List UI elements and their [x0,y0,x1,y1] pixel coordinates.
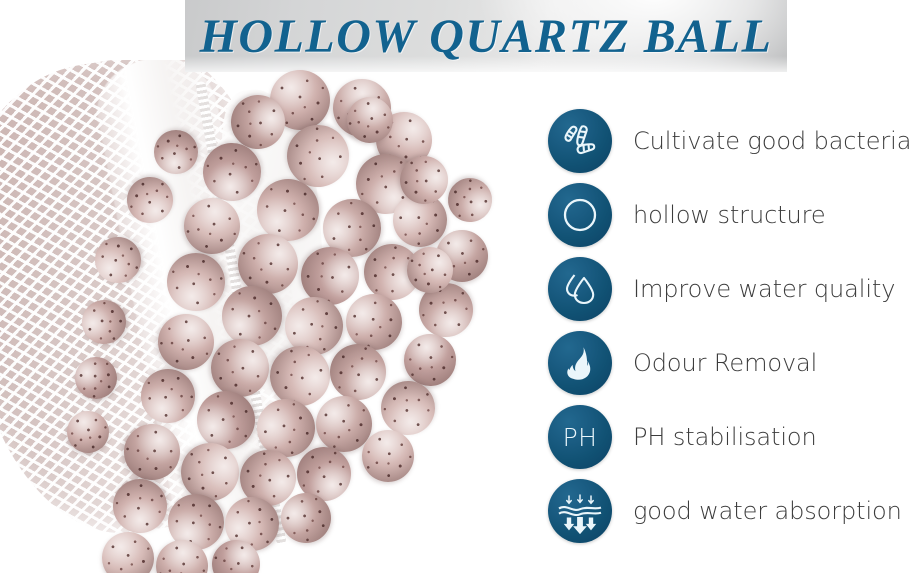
feature-label: Improve water quality [633,275,895,303]
feature-row-improve-water-quality: Improve water quality [548,252,922,326]
ph-glyph-text: PH [563,425,598,450]
product-photo [0,60,530,573]
water-absorption-icon [548,479,612,543]
feature-row-cultivate-good-bacteria: Cultivate good bacteria [548,104,922,178]
feature-row-hollow-structure: hollow structure [548,178,922,252]
product-infographic: HOLLOW QUARTZ BALL Cultivate good bacter… [0,0,922,573]
ph-icon: PH [548,405,612,469]
quartz-ball [440,170,500,230]
feature-label: Cultivate good bacteria [633,127,911,155]
hollow-ring-icon [548,183,612,247]
feature-row-ph-stabilisation: PH PH stabilisation [548,400,922,474]
bacteria-icon [548,109,612,173]
water-droplets-icon [548,257,612,321]
feature-label: hollow structure [633,201,826,229]
page-title: HOLLOW QUARTZ BALL [185,4,787,68]
feature-row-odour-removal: Odour Removal [548,326,922,400]
feature-list: Cultivate good bacteria hollow structure… [548,104,922,548]
flame-icon [548,331,612,395]
title-banner: HOLLOW QUARTZ BALL [185,0,787,72]
feature-label: PH stabilisation [633,423,817,451]
feature-label: good water absorption [633,497,902,525]
feature-row-good-water-absorption: good water absorption [548,474,922,548]
quartz-ball [101,531,156,573]
feature-label: Odour Removal [633,349,817,377]
